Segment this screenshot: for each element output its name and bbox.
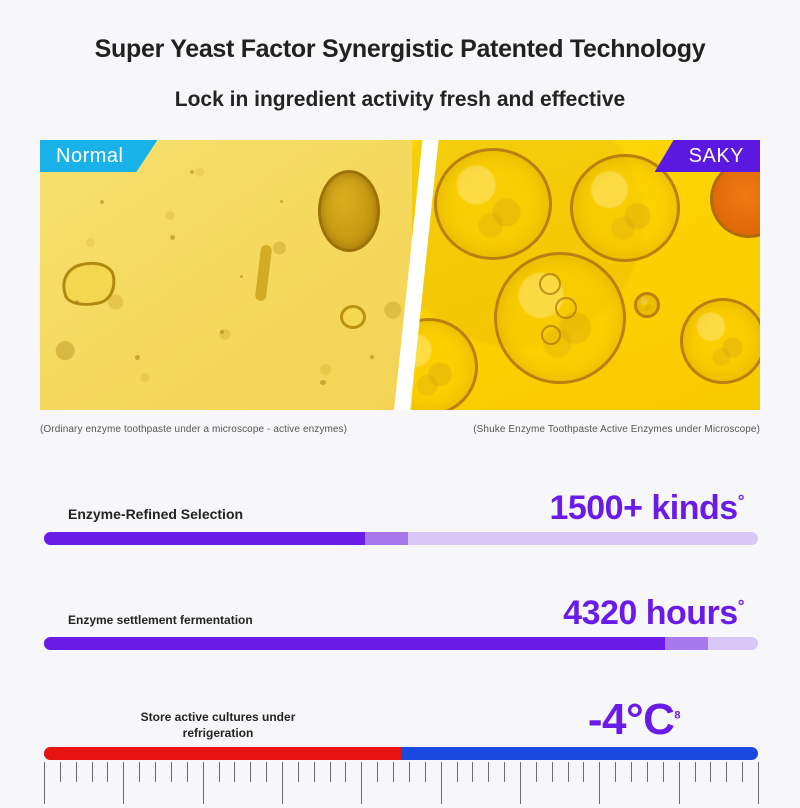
ruler-tick-minor	[695, 762, 696, 782]
ruler-tick-minor	[234, 762, 235, 782]
ruler-tick-major	[203, 762, 204, 804]
metric-value-text: -4°C	[588, 695, 675, 744]
ruler-tick-minor	[345, 762, 346, 782]
metric-label: Enzyme-Refined Selection	[68, 506, 243, 522]
ruler-tick-minor	[219, 762, 220, 782]
metric-row-enzyme-selection: Enzyme-Refined Selection 1500+ kinds°	[44, 480, 758, 545]
metric-value-text: 1500+ kinds	[549, 489, 737, 527]
metric-label-line1: Store active cultures under	[88, 709, 348, 725]
yeast-cell	[434, 148, 552, 260]
ruler-tick-minor	[60, 762, 61, 782]
banner-saky-label: SAKY	[689, 145, 744, 168]
ruler-tick-minor	[250, 762, 251, 782]
yeast-cell	[412, 318, 478, 410]
ruler-tick-major	[520, 762, 521, 804]
page-subtitle: Lock in ingredient activity fresh and ef…	[0, 64, 800, 112]
ruler-tick-minor	[377, 762, 378, 782]
banner-normal: Normal	[40, 140, 157, 172]
ruler-tick-minor	[472, 762, 473, 782]
speck	[220, 330, 224, 334]
yeast-cell	[634, 292, 660, 318]
progress-bar-fill	[44, 637, 665, 650]
ruler-tick-minor	[409, 762, 410, 782]
ruler-tick-minor	[107, 762, 108, 782]
metric-header: Store active cultures under refrigeratio…	[44, 695, 758, 741]
speck	[370, 355, 374, 359]
ruler-tick-minor	[92, 762, 93, 782]
metric-row-fermentation: Enzyme settlement fermentation 4320 hour…	[44, 585, 758, 650]
ruler-tick-minor	[266, 762, 267, 782]
cell-inner-ring	[555, 297, 577, 319]
ruler-tick-minor	[187, 762, 188, 782]
ruler-tick-minor	[647, 762, 648, 782]
metric-label: Store active cultures under refrigeratio…	[88, 709, 348, 741]
ruler-tick-minor	[76, 762, 77, 782]
ruler-tick-minor	[171, 762, 172, 782]
metric-value-superscript: 8	[674, 709, 680, 721]
banner-saky: SAKY	[655, 140, 760, 172]
metric-value: -4°C8	[588, 695, 680, 745]
metric-header: Enzyme-Refined Selection 1500+ kinds°	[44, 480, 758, 526]
ruler-tick-major	[361, 762, 362, 804]
ruler-tick-major	[123, 762, 124, 804]
microscope-comparison: Normal SAKY	[40, 140, 760, 410]
caption-saky: (Shuke Enzyme Toothpaste Active Enzymes …	[473, 424, 760, 435]
ruler-tick-minor	[393, 762, 394, 782]
speck	[135, 355, 140, 360]
yeast-cell	[494, 252, 626, 384]
ruler-tick-major	[44, 762, 45, 804]
ruler-tick-minor	[314, 762, 315, 782]
metric-label-line2: refrigeration	[88, 725, 348, 741]
ruler-tick-minor	[726, 762, 727, 782]
microscope-panel-normal: Normal	[40, 140, 460, 410]
metric-value: 4320 hours°	[563, 594, 744, 633]
ruler-tick-major	[282, 762, 283, 804]
speck	[100, 200, 104, 204]
ruler-tick-minor	[488, 762, 489, 782]
temperature-bar-red	[44, 747, 401, 760]
ruler-tick-minor	[710, 762, 711, 782]
progress-bar-fill	[44, 532, 365, 545]
metric-value-text: 4320 hours	[563, 594, 738, 632]
ruler-tick-minor	[298, 762, 299, 782]
ruler-tick-minor	[504, 762, 505, 782]
speck	[280, 200, 283, 203]
metric-label: Enzyme settlement fermentation	[68, 613, 253, 627]
cell-oval	[318, 170, 380, 252]
cell-ring	[340, 305, 366, 329]
ruler-tick-minor	[139, 762, 140, 782]
ruler-tick-major	[441, 762, 442, 804]
metric-row-storage-temperature: Store active cultures under refrigeratio…	[44, 695, 758, 808]
metric-value-superscript: °	[738, 492, 744, 511]
ruler-tick-minor	[552, 762, 553, 782]
ruler-tick-minor	[536, 762, 537, 782]
caption-normal: (Ordinary enzyme toothpaste under a micr…	[40, 424, 347, 435]
ruler-tick-minor	[663, 762, 664, 782]
cell-inner-ring	[539, 273, 561, 295]
speck	[170, 235, 175, 240]
cell-rod	[255, 245, 273, 302]
metric-value: 1500+ kinds°	[549, 489, 744, 528]
speck	[75, 300, 79, 304]
cell-inner-ring	[541, 325, 561, 345]
progress-bar-enzyme-selection	[44, 532, 758, 545]
ruler-tick-minor	[583, 762, 584, 782]
temperature-ruler	[44, 762, 758, 808]
ruler-tick-major	[599, 762, 600, 804]
ruler-tick-minor	[631, 762, 632, 782]
ruler-tick-minor	[742, 762, 743, 782]
speck	[320, 380, 326, 385]
progress-bar-fermentation	[44, 637, 758, 650]
ruler-tick-minor	[330, 762, 331, 782]
ruler-tick-major	[679, 762, 680, 804]
microscope-panel-saky: SAKY	[412, 140, 760, 410]
speck	[190, 170, 194, 174]
ruler-tick-minor	[568, 762, 569, 782]
page-title: Super Yeast Factor Synergistic Patented …	[0, 0, 800, 64]
metric-value-superscript: °	[738, 597, 744, 616]
metric-header: Enzyme settlement fermentation 4320 hour…	[44, 585, 758, 631]
ruler-tick-major	[758, 762, 759, 804]
speck	[240, 275, 243, 278]
ruler-tick-minor	[425, 762, 426, 782]
cell-blob	[58, 257, 120, 311]
banner-normal-label: Normal	[56, 145, 123, 168]
temperature-bar	[44, 747, 758, 760]
yeast-cell	[680, 298, 760, 384]
caption-row: (Ordinary enzyme toothpaste under a micr…	[40, 424, 760, 435]
ruler-tick-minor	[615, 762, 616, 782]
ruler-tick-minor	[155, 762, 156, 782]
ruler-tick-minor	[457, 762, 458, 782]
